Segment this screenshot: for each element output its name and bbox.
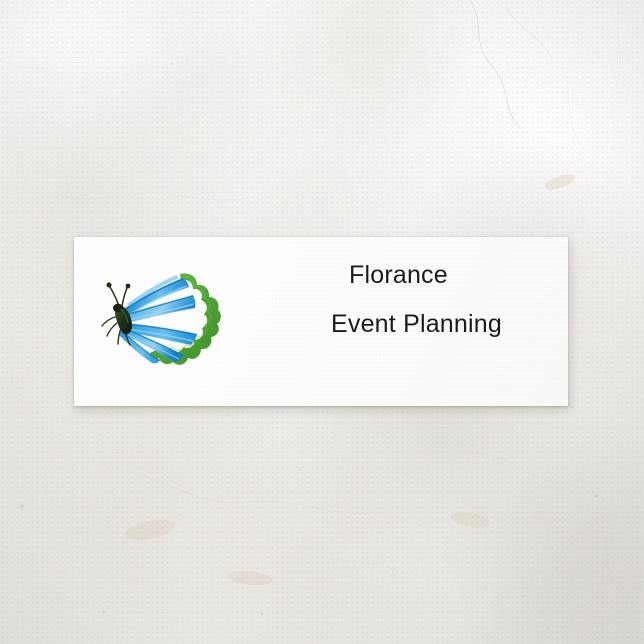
company-tagline: Event Planning	[331, 312, 549, 337]
business-card[interactable]: Florance Event Planning	[74, 237, 568, 406]
watercolor-butterfly-icon	[98, 261, 222, 377]
product-photo-scene: Florance Event Planning	[0, 0, 644, 644]
company-name: Florance	[349, 263, 549, 288]
card-text-block: Florance Event Planning	[329, 263, 549, 337]
